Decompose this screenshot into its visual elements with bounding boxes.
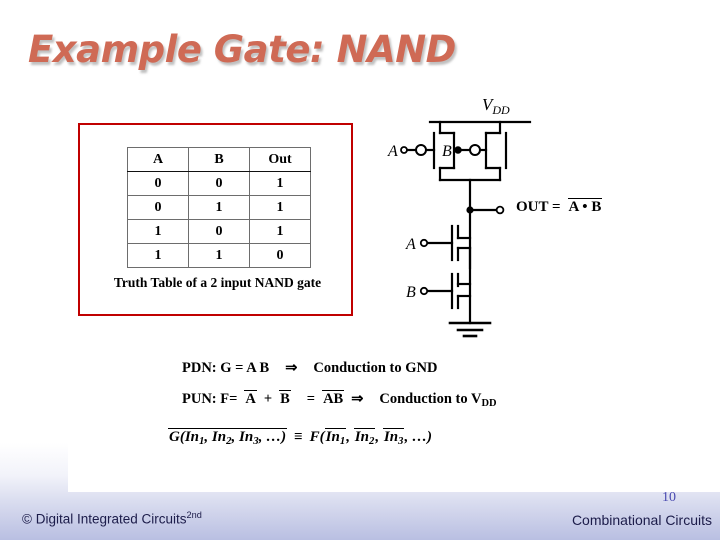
cell-a: 1 xyxy=(128,244,189,268)
pun-label: PUN: F= xyxy=(182,391,237,407)
table-row: 1 0 1 xyxy=(128,220,311,244)
copyright-text: © Digital Integrated Circuits xyxy=(22,511,187,526)
out-dot-operator: • xyxy=(582,199,587,215)
cell-out: 1 xyxy=(250,220,311,244)
column-header-b: B xyxy=(189,148,250,172)
pdn-implies-icon: ⇒ xyxy=(285,360,297,376)
equation-pun: PUN: F=A+B=AB⇒Conduction to VDD xyxy=(182,390,497,409)
duality-equiv-icon: ≡ xyxy=(294,429,303,445)
nmos-b-terminal-dot xyxy=(421,288,427,294)
duality-g-tail: , …) xyxy=(259,429,287,445)
output-expression: OUT =A • B xyxy=(516,198,602,216)
slide-canvas: Example Gate: NAND A B Out 0 0 1 0 1 xyxy=(0,0,720,540)
pmos-a-terminal-dot xyxy=(401,147,407,153)
table-row: 0 0 1 xyxy=(128,172,311,196)
equation-pdn: PDN: G = A B⇒Conduction to GND xyxy=(182,360,437,377)
nmos-a-terminal-dot xyxy=(421,240,427,246)
pmos-a-label: A xyxy=(387,143,398,160)
page-number: 10 xyxy=(662,490,676,506)
page-title: Example Gate: NAND xyxy=(28,28,456,71)
schematic-svg: VDD A B A B xyxy=(382,88,632,348)
pun-equals: = xyxy=(307,391,315,407)
pdn-result: Conduction to GND xyxy=(313,360,437,376)
duality-in3: In xyxy=(384,429,398,445)
pun-ab-overbar: AB xyxy=(322,390,344,408)
column-header-out: Out xyxy=(250,148,311,172)
pmos-a-inversion-bubble xyxy=(416,145,426,155)
pun-b-overbar: B xyxy=(279,390,291,408)
output-node-dot xyxy=(466,206,473,213)
nmos-b-label: B xyxy=(406,284,416,301)
cell-a: 1 xyxy=(128,220,189,244)
duality-f: F( xyxy=(310,429,325,445)
footer-copyright: © Digital Integrated Circuits2nd xyxy=(22,510,202,527)
table-row: 0 1 1 xyxy=(128,196,311,220)
duality-in1: In xyxy=(326,429,340,445)
cell-a: 0 xyxy=(128,172,189,196)
duality-g: G(In xyxy=(169,429,199,445)
vdd-label: VDD xyxy=(482,95,510,117)
cell-out: 1 xyxy=(250,196,311,220)
pdn-label: PDN: G = A B xyxy=(182,360,269,376)
duality-in3-sub: 3 xyxy=(398,435,403,447)
duality-sep2: , xyxy=(375,429,383,445)
cell-b: 0 xyxy=(189,220,250,244)
duality-in1-overbar: In1 xyxy=(325,428,347,447)
duality-f-tail: , …) xyxy=(404,429,432,445)
pmos-b-label: B xyxy=(442,143,452,160)
pun-result: Conduction to V xyxy=(379,391,481,407)
cell-b: 0 xyxy=(189,172,250,196)
cell-out: 1 xyxy=(250,172,311,196)
cell-b: 1 xyxy=(189,244,250,268)
column-header-a: A xyxy=(128,148,189,172)
pun-a-overbar: A xyxy=(244,390,256,408)
out-prefix: OUT = xyxy=(516,199,561,215)
duality-g-mid2: , In xyxy=(232,429,254,445)
truth-table-caption: Truth Table of a 2 input NAND gate xyxy=(90,275,345,291)
pmos-b-inversion-bubble xyxy=(470,145,480,155)
out-overbar-group: A • B xyxy=(568,198,603,216)
nmos-a-label: A xyxy=(405,236,416,253)
pmos-b-terminal-dot xyxy=(455,147,461,153)
pun-result-sub: DD xyxy=(481,398,496,409)
equation-duality: G(In1, In2, In3, …)≡F(In1, In2, In3, …) xyxy=(168,428,432,447)
nand-schematic: VDD A B A B xyxy=(382,88,632,348)
table-header-row: A B Out xyxy=(128,148,311,172)
pun-implies-icon: ⇒ xyxy=(351,391,363,407)
duality-in2: In xyxy=(355,429,369,445)
footer-section-title: Combinational Circuits xyxy=(572,512,712,528)
output-terminal-dot xyxy=(497,207,504,214)
cell-b: 1 xyxy=(189,196,250,220)
truth-table-box: A B Out 0 0 1 0 1 1 1 0 xyxy=(78,123,353,316)
duality-g-mid1: , In xyxy=(204,429,226,445)
cell-a: 0 xyxy=(128,196,189,220)
pun-plus: + xyxy=(264,391,272,407)
out-operand-a: A xyxy=(569,199,579,215)
duality-in1-sub: 1 xyxy=(340,435,345,447)
duality-sep1: , xyxy=(346,429,354,445)
table-row: 1 1 0 xyxy=(128,244,311,268)
duality-in2-overbar: In2 xyxy=(354,428,376,447)
duality-in2-sub: 2 xyxy=(369,435,374,447)
truth-table: A B Out 0 0 1 0 1 1 1 0 xyxy=(127,147,311,268)
cell-out: 0 xyxy=(250,244,311,268)
duality-in3-overbar: In3 xyxy=(383,428,405,447)
out-operand-b: B xyxy=(591,199,601,215)
copyright-edition: 2nd xyxy=(187,510,202,520)
duality-g-overbar: G(In1, In2, In3, …) xyxy=(168,428,287,447)
